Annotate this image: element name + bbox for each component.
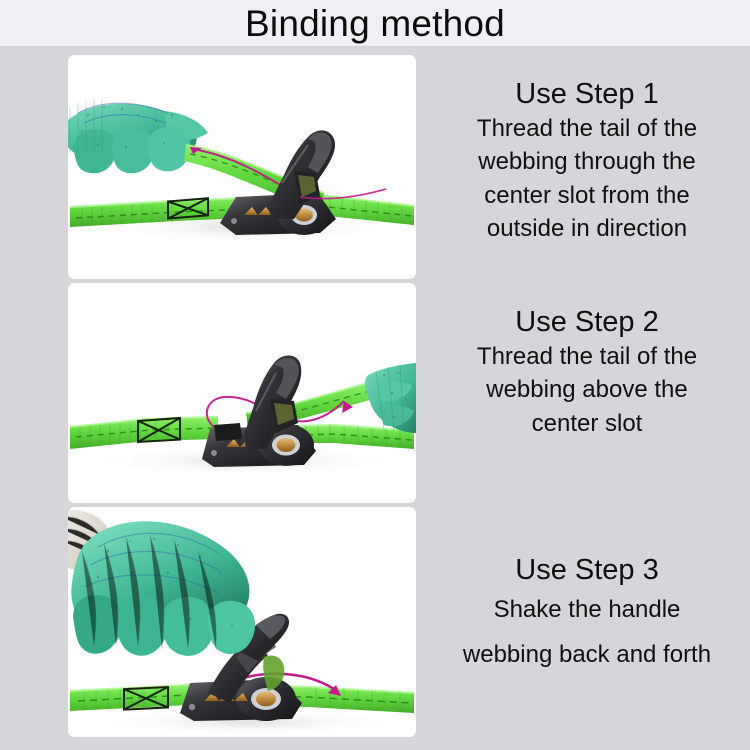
step-3-heading: Use Step 3: [515, 553, 658, 588]
header-bar: Binding method: [0, 0, 750, 46]
step-row-2: Use Step 2 Thread the tail of the webbin…: [0, 283, 750, 503]
step-1-line-1: Thread the tail of the: [477, 112, 697, 145]
step-2-body: Thread the tail of the webbing above the…: [477, 340, 697, 439]
step-2-line-2: webbing above the: [477, 373, 697, 406]
scene-step-1: [68, 55, 416, 279]
step-2-heading: Use Step 2: [515, 305, 658, 340]
step-2-text: Use Step 2 Thread the tail of the webbin…: [424, 283, 750, 503]
scene-step-2: [68, 283, 416, 503]
step-3-photo: [68, 507, 416, 737]
step-2-line-1: Thread the tail of the: [477, 340, 697, 373]
step-1-text: Use Step 1 Thread the tail of the webbin…: [424, 55, 750, 279]
step-1-line-2: webbing through the: [477, 145, 697, 178]
step-row-1: Use Step 1 Thread the tail of the webbin…: [0, 55, 750, 279]
page-title: Binding method: [0, 0, 750, 46]
step-3-line-1: Shake the handle: [463, 588, 711, 632]
step-1-line-4: outside in direction: [477, 212, 697, 245]
scene-step-3: [68, 507, 416, 737]
step-1-line-3: center slot from the: [477, 179, 697, 212]
step-3-line-2: webbing back and forth: [463, 633, 711, 677]
step-2-photo: [68, 283, 416, 503]
step-row-3: Use Step 3 Shake the handle webbing back…: [0, 507, 750, 737]
step-3-body: Shake the handle webbing back and forth: [463, 588, 711, 677]
step-1-body: Thread the tail of the webbing through t…: [477, 112, 697, 244]
steps-container: Use Step 1 Thread the tail of the webbin…: [0, 46, 750, 750]
step-1-photo: [68, 55, 416, 279]
step-2-line-3: center slot: [477, 407, 697, 440]
step-1-heading: Use Step 1: [515, 77, 658, 112]
step-3-text: Use Step 3 Shake the handle webbing back…: [424, 507, 750, 737]
